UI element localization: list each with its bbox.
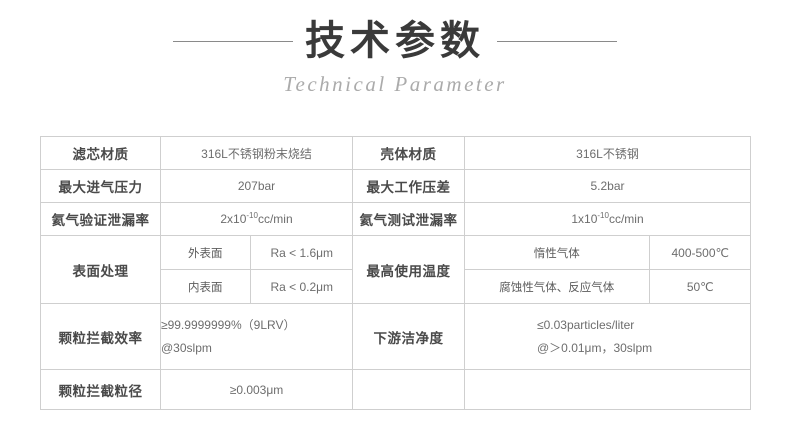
row-value-particle-retention-size: ≥0.003μm — [161, 370, 353, 410]
row-value-housing-material: 316L不锈钢 — [465, 137, 751, 170]
row-label-downstream-cleanliness: 下游洁净度 — [353, 304, 465, 370]
page-title: 技术参数 — [305, 18, 485, 64]
surface-treatment-subtable: 外表面 Ra < 1.6μm 内表面 Ra < 0.2μm — [161, 236, 353, 303]
row-label-particle-retention-size: 颗粒拦截粒径 — [41, 370, 161, 410]
row-label-max-working-differential-pressure: 最大工作压差 — [353, 170, 465, 203]
row-value-empty — [465, 370, 751, 410]
leak-rate-suffix: cc/min — [609, 212, 644, 226]
subtable-row: 内表面 Ra < 0.2μm — [161, 270, 353, 304]
surface-treatment-subtable-cell: 外表面 Ra < 1.6μm 内表面 Ra < 0.2μm — [161, 236, 353, 304]
row-label-max-operating-temperature: 最高使用温度 — [353, 236, 465, 304]
cleanliness-line-2: @＞0.01μm，30slpm — [537, 337, 750, 359]
page-subtitle: Technical Parameter — [0, 72, 790, 97]
sub-value-corrosive-reactive-gas-temp: 50℃ — [649, 270, 751, 304]
leak-rate-exponent: -10 — [597, 211, 609, 220]
table-row: 颗粒拦截效率 ≥99.9999999%（9LRV） @30slpm 下游洁净度 … — [41, 304, 751, 370]
efficiency-line-1: ≥99.9999999%（9LRV） — [161, 314, 352, 336]
leak-rate-exponent: -10 — [246, 211, 258, 220]
temperature-subtable-cell: 惰性气体 400-500℃ 腐蚀性气体、反应气体 50℃ — [465, 236, 751, 304]
subtable-row: 惰性气体 400-500℃ — [465, 236, 751, 270]
sub-value-inner-surface: Ra < 0.2μm — [250, 270, 353, 304]
sub-value-inert-gas-temp: 400-500℃ — [649, 236, 751, 270]
title-row: 技术参数 — [0, 18, 790, 64]
row-value-helium-test-leak-rate: 1x10-10cc/min — [465, 203, 751, 236]
title-rule-left — [173, 41, 293, 42]
table-row: 最大进气压力 207bar 最大工作压差 5.2bar — [41, 170, 751, 203]
spec-table: 滤芯材质 316L不锈钢粉末烧结 壳体材质 316L不锈钢 最大进气压力 207… — [40, 136, 751, 410]
efficiency-line-2: @30slpm — [161, 337, 352, 359]
row-value-particle-retention-efficiency: ≥99.9999999%（9LRV） @30slpm — [161, 304, 353, 370]
leak-rate-prefix: 2x10 — [220, 212, 246, 226]
subtable-row: 外表面 Ra < 1.6μm — [161, 236, 353, 270]
sub-label-inert-gas: 惰性气体 — [465, 236, 649, 270]
cleanliness-line-1: ≤0.03particles/liter — [537, 314, 750, 336]
row-value-max-inlet-pressure: 207bar — [161, 170, 353, 203]
table-row: 滤芯材质 316L不锈钢粉末烧结 壳体材质 316L不锈钢 — [41, 137, 751, 170]
subtable-row: 腐蚀性气体、反应气体 50℃ — [465, 270, 751, 304]
leak-rate-suffix: cc/min — [258, 212, 293, 226]
row-label-helium-test-leak-rate: 氦气测试泄漏率 — [353, 203, 465, 236]
row-value-max-working-differential-pressure: 5.2bar — [465, 170, 751, 203]
row-value-helium-validation-leak-rate: 2x10-10cc/min — [161, 203, 353, 236]
table-row: 表面处理 外表面 Ra < 1.6μm 内表面 Ra < 0.2μm — [41, 236, 751, 304]
row-label-empty — [353, 370, 465, 410]
row-label-filter-material: 滤芯材质 — [41, 137, 161, 170]
title-rule-right — [497, 41, 617, 42]
sub-label-corrosive-reactive-gas: 腐蚀性气体、反应气体 — [465, 270, 649, 304]
table-row: 氦气验证泄漏率 2x10-10cc/min 氦气测试泄漏率 1x10-10cc/… — [41, 203, 751, 236]
temperature-subtable: 惰性气体 400-500℃ 腐蚀性气体、反应气体 50℃ — [465, 236, 751, 303]
row-label-housing-material: 壳体材质 — [353, 137, 465, 170]
row-label-surface-treatment: 表面处理 — [41, 236, 161, 304]
row-label-helium-validation-leak-rate: 氦气验证泄漏率 — [41, 203, 161, 236]
table-row: 颗粒拦截粒径 ≥0.003μm — [41, 370, 751, 410]
page-header: 技术参数 Technical Parameter — [0, 0, 790, 97]
row-value-downstream-cleanliness: ≤0.03particles/liter @＞0.01μm，30slpm — [465, 304, 751, 370]
sub-label-outer-surface: 外表面 — [161, 236, 250, 270]
leak-rate-prefix: 1x10 — [571, 212, 597, 226]
row-label-max-inlet-pressure: 最大进气压力 — [41, 170, 161, 203]
sub-value-outer-surface: Ra < 1.6μm — [250, 236, 353, 270]
technical-parameter-page: 技术参数 Technical Parameter 滤芯材质 316L不锈钢粉末烧… — [0, 0, 790, 442]
row-value-filter-material: 316L不锈钢粉末烧结 — [161, 137, 353, 170]
sub-label-inner-surface: 内表面 — [161, 270, 250, 304]
row-label-particle-retention-efficiency: 颗粒拦截效率 — [41, 304, 161, 370]
